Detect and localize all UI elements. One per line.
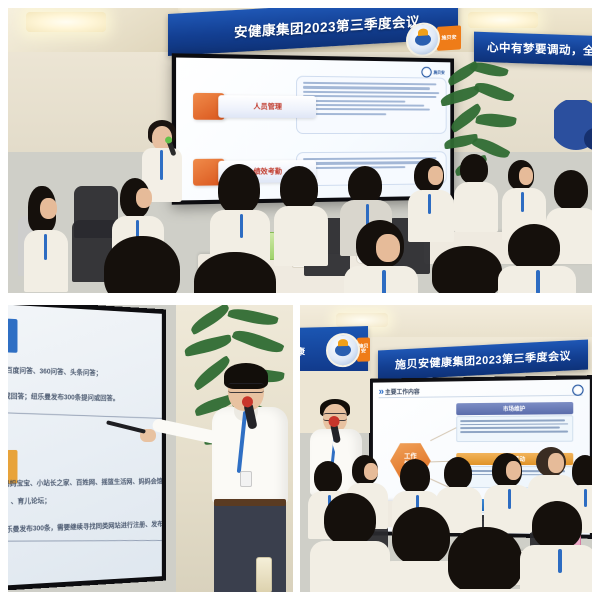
- photo-collage: 安健康集团2023第三季度会议 施贝安 心中有梦要调动，全 施贝安: [0, 0, 600, 600]
- slide-title: 主要工作内容: [385, 387, 420, 396]
- slide-line-2: 问或回答；纽乐曼发布300条提问或回答。: [8, 392, 119, 404]
- mascot-bear-icon: [326, 333, 360, 368]
- mascot-brand-tag: 施贝安: [437, 25, 461, 50]
- ceiling-light-icon: [336, 313, 388, 327]
- wall-decor-graphic: [554, 100, 592, 158]
- presenter-badge: [240, 471, 252, 487]
- slide-divider: [8, 540, 162, 542]
- ceiling-light-icon: [26, 12, 106, 32]
- connector-line: [430, 426, 459, 441]
- presenter-belt: [214, 499, 286, 506]
- ceiling-light-icon: [468, 12, 538, 28]
- slide-logo: [572, 384, 583, 395]
- company-logo-icon: [572, 384, 583, 395]
- mascot-logo: 施贝安: [326, 330, 370, 369]
- projector-screen-bottom-left: 、百度问答、360问答、头条问答； 问或回答；纽乐曼发布300条提问或回答。 妈…: [8, 305, 166, 591]
- mascot-logo: 施贝安: [406, 20, 462, 57]
- chevron-right-icon: »: [379, 386, 382, 397]
- slogan-banner-right: 心中有梦要调动，全: [474, 32, 592, 67]
- presenter-male-pointing: [206, 363, 292, 592]
- meeting-banner-text: 安健康集团2023第三季度会议: [234, 10, 420, 41]
- slide-line-3: 妈妈宝宝、小站长之家、百姓网、摇篮生活网、妈妈会馆网: [8, 477, 162, 489]
- water-bottle: [256, 557, 272, 592]
- side-wall-banner-text: 康: [300, 344, 305, 357]
- photo-bottom-right-conference: 康 施贝安 施贝安健康集团2023第三季度会议 » 主要工作内容: [300, 305, 592, 592]
- glasses-icon: [228, 383, 264, 393]
- mascot-bear-icon: [406, 22, 440, 58]
- slide-line-1: 、百度问答、360问答、头条问答；: [8, 366, 102, 378]
- photo-top-conference-wide: 安健康集团2023第三季度会议 施贝安 心中有梦要调动，全 施贝安: [8, 8, 592, 293]
- slogan-banner-text: 心中有梦要调动，全: [487, 39, 592, 59]
- slide-line-5: 纽乐曼发布300条，需要继续寻找同类网站进行注册、发布。: [8, 520, 162, 535]
- slide-title-row: » 主要工作内容: [379, 386, 420, 397]
- presentation-slide-bottom-left: 、百度问答、360问答、头条问答； 问或回答；纽乐曼发布300条提问或回答。 妈…: [8, 305, 162, 586]
- slide-accent-bar-blue: [8, 319, 17, 353]
- slide-tab-personnel: 人员管理: [193, 93, 316, 120]
- slide-section-market-maintenance: 市场维护: [456, 402, 573, 415]
- slide-divider: [8, 412, 162, 419]
- meeting-banner-text: 施贝安健康集团2023第三季度会议: [395, 347, 571, 372]
- slide-section-1-body: [456, 415, 573, 442]
- slide-text-card-personnel: [296, 76, 447, 134]
- photo-bottom-left-presenter: 、百度问答、360问答、头条问答； 问或回答；纽乐曼发布300条提问或回答。 妈…: [8, 305, 293, 592]
- company-logo-icon: [421, 67, 431, 78]
- presenter-trousers: [214, 501, 286, 592]
- slide-line-4: 、育儿论坛；: [11, 497, 51, 507]
- slide-tab-personnel-label: 人员管理: [218, 95, 316, 118]
